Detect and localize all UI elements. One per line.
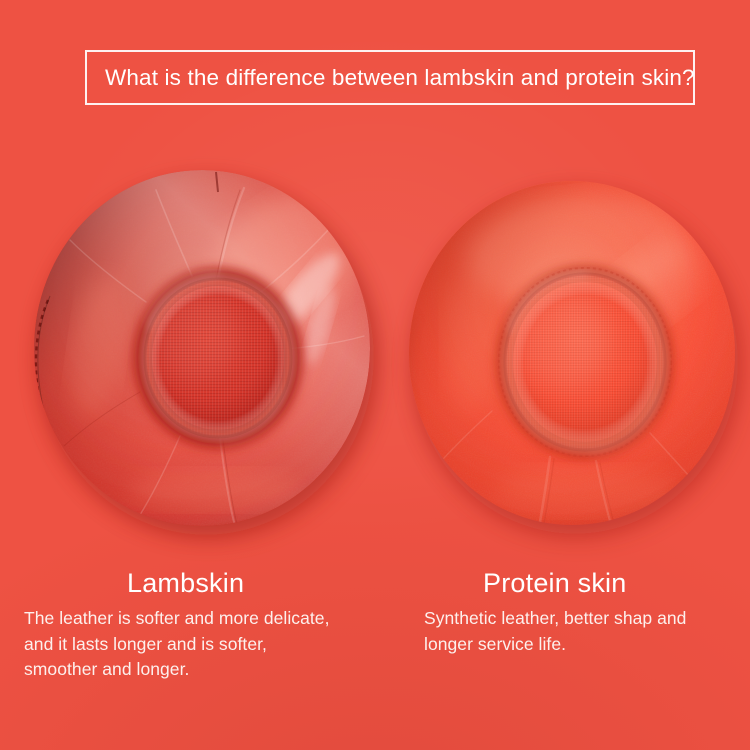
lambskin-description: The leather is softer and more delicate,… (24, 606, 374, 683)
page-title: What is the difference between lambskin … (105, 65, 695, 91)
product-comparison-page: What is the difference between lambskin … (0, 0, 750, 750)
title-banner: What is the difference between lambskin … (85, 50, 695, 105)
protein-skin-description: Synthetic leather, better shap and longe… (424, 606, 744, 657)
lambskin-heading: Lambskin (127, 568, 244, 599)
lambskin-earpad-photo (20, 150, 390, 550)
protein-skin-heading: Protein skin (483, 568, 626, 599)
protein-skin-earpad-photo (400, 165, 745, 545)
